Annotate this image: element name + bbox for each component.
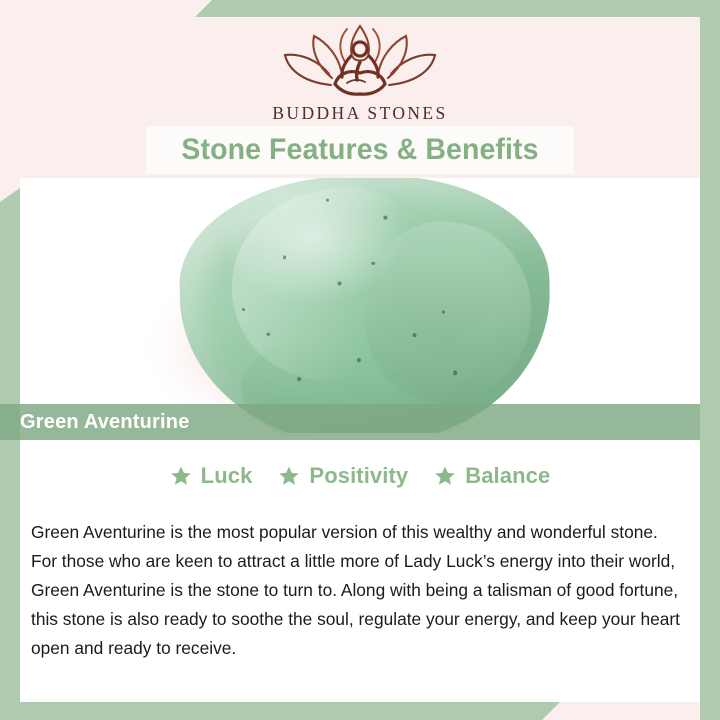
title-banner: Stone Features & Benefits — [146, 126, 574, 174]
stone-speck — [297, 377, 301, 381]
green-aventurine-stone — [178, 178, 553, 433]
stone-features-card: BUDDHA STONES Stone Features & Benefits … — [0, 0, 720, 720]
star-icon — [434, 465, 456, 487]
benefit-label: Positivity — [309, 463, 408, 489]
stone-speck — [442, 311, 445, 314]
stone-speck — [371, 262, 375, 265]
benefit-item: Positivity — [278, 463, 408, 489]
brand-name: BUDDHA STONES — [0, 103, 720, 124]
stone-image — [20, 178, 700, 433]
stone-facet-right — [356, 213, 542, 412]
stone-speck — [266, 333, 270, 336]
stone-facet-highlight — [213, 178, 451, 401]
frame-accent-left — [0, 188, 20, 720]
stone-speck — [383, 216, 387, 220]
stone-description: Green Aventurine is the most popular ver… — [31, 518, 683, 663]
stone-speck — [337, 281, 341, 285]
star-icon — [170, 465, 192, 487]
benefit-label: Luck — [201, 463, 253, 489]
stone-speck — [412, 333, 416, 337]
stone-speck — [326, 199, 329, 202]
brand-header: BUDDHA STONES — [0, 22, 720, 124]
lotus-meditation-figure-icon — [275, 22, 445, 100]
stone-speck — [283, 255, 286, 259]
star-icon — [278, 465, 300, 487]
benefit-item: Luck — [170, 463, 253, 489]
frame-accent-top — [195, 0, 720, 17]
page-title: Stone Features & Benefits — [181, 133, 538, 167]
stone-name-bar: Green Aventurine — [0, 404, 700, 440]
stone-speck — [453, 370, 457, 375]
benefit-item: Balance — [434, 463, 550, 489]
benefits-row: Luck Positivity Balance — [20, 463, 700, 489]
stone-name-label: Green Aventurine — [20, 411, 190, 434]
frame-accent-bottom — [0, 702, 560, 720]
stone-speck — [357, 358, 361, 362]
benefit-label: Balance — [465, 463, 550, 489]
stone-speck — [242, 308, 245, 311]
